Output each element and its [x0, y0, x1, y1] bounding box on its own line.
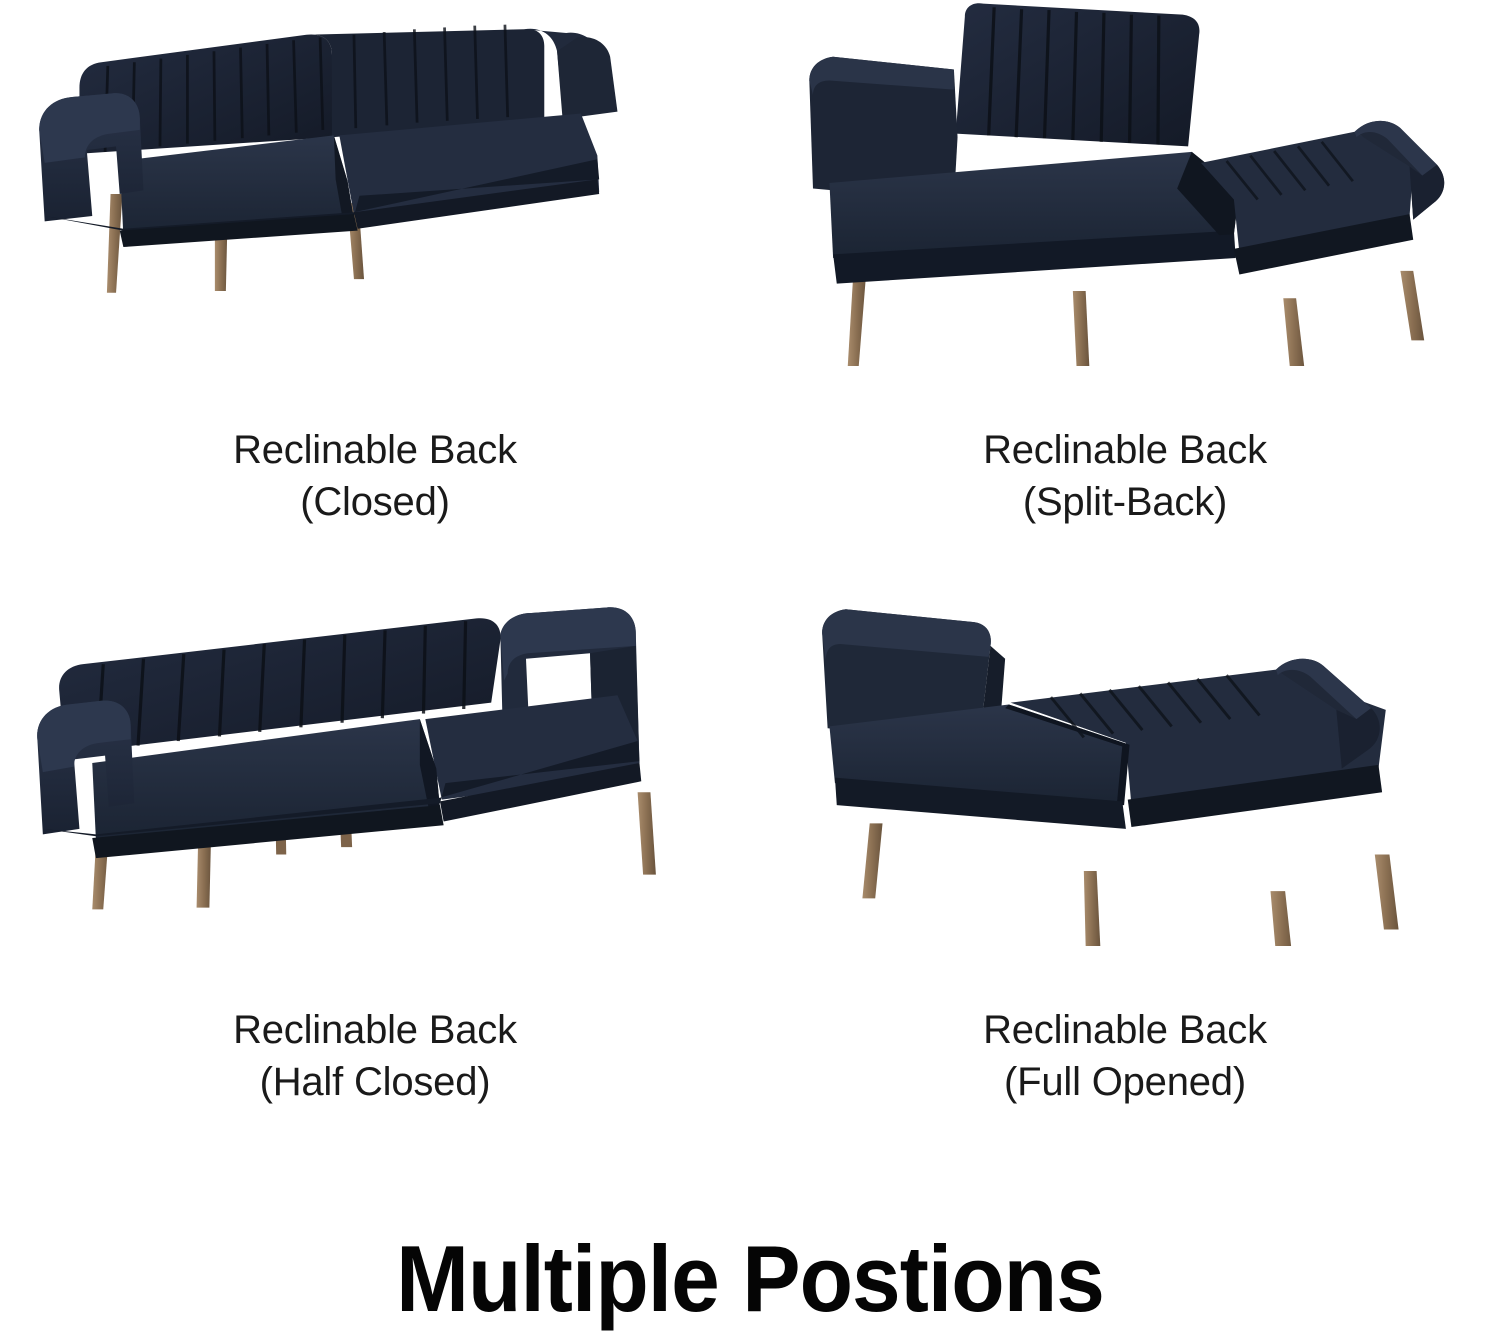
sofa-body [39, 25, 617, 247]
sofa-legs [848, 271, 1424, 366]
caption-half-closed: Reclinable Back (Half Closed) [233, 952, 517, 1160]
sofa-full-opened-illustration [750, 580, 1500, 946]
caption-line-1: Reclinable Back [233, 1008, 517, 1052]
figure-cell-half-closed: Reclinable Back (Half Closed) [0, 580, 750, 1160]
caption-line-2: (Closed) [233, 476, 517, 528]
figure-cell-closed: Reclinable Back (Closed) [0, 0, 750, 580]
figure-cell-full-opened: Reclinable Back (Full Opened) [750, 580, 1500, 1160]
page-title: Multiple Postions [53, 1232, 1448, 1326]
caption-line-1: Reclinable Back [983, 428, 1267, 472]
caption-line-1: Reclinable Back [233, 428, 517, 472]
caption-full-opened: Reclinable Back (Full Opened) [983, 952, 1267, 1160]
positions-grid: Reclinable Back (Closed) [0, 0, 1500, 1160]
caption-line-2: (Full Opened) [983, 1056, 1267, 1108]
caption-split-back: Reclinable Back (Split-Back) [983, 372, 1267, 580]
sofa-split-back-illustration [750, 0, 1500, 366]
figure-cell-split-back: Reclinable Back (Split-Back) [750, 0, 1500, 580]
sofa-half-closed-illustration [0, 580, 750, 946]
sofa-body [37, 607, 641, 858]
caption-line-1: Reclinable Back [983, 1008, 1267, 1052]
caption-line-2: (Half Closed) [233, 1056, 517, 1108]
sofa-body [809, 3, 1444, 283]
caption-line-2: (Split-Back) [983, 476, 1267, 528]
sofa-legs [862, 823, 1398, 946]
sofa-body [822, 609, 1386, 829]
sofa-closed-illustration [0, 0, 750, 366]
caption-closed: Reclinable Back (Closed) [233, 372, 517, 580]
